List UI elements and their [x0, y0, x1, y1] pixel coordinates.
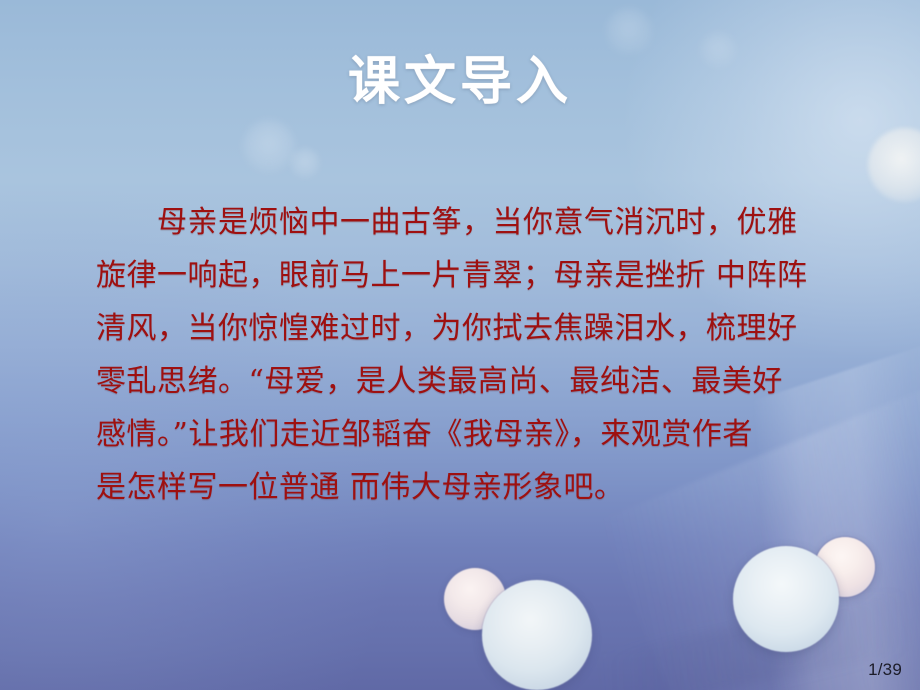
slide-body-text: 母亲是烦恼中一曲古筝，当你意气消沉时，优雅 旋律一响起，眼前马上一片青翠；母亲是… — [96, 196, 836, 514]
sphere-left-large-icon — [482, 580, 592, 690]
bokeh-highlight-icon — [243, 120, 295, 172]
bokeh-highlight-icon — [606, 8, 652, 54]
body-line: 感情。”让我们走近邹韬奋《我母亲》，来观赏作者 — [96, 408, 836, 461]
body-line: 零乱思绪。“母爱，是人类最高尚、最纯洁、最美好 — [96, 355, 836, 408]
sphere-right-large-icon — [733, 546, 839, 652]
bokeh-highlight-icon — [290, 148, 320, 178]
body-line: 是怎样写一位普通 而伟大母亲形象吧。 — [96, 461, 836, 514]
slide-title: 课文导入 — [0, 52, 920, 112]
body-line: 清风，当你惊惶难过时，为你拭去焦躁泪水，梳理好 — [96, 302, 836, 355]
page-indicator: 1/39 — [868, 660, 902, 680]
presentation-slide: 课文导入 母亲是烦恼中一曲古筝，当你意气消沉时，优雅 旋律一响起，眼前马上一片青… — [0, 0, 920, 690]
body-line: 母亲是烦恼中一曲古筝，当你意气消沉时，优雅 — [96, 196, 836, 249]
bokeh-highlight-icon — [868, 128, 920, 202]
sphere-left-small-icon — [444, 568, 506, 630]
body-line: 旋律一响起，眼前马上一片青翠；母亲是挫折 中阵阵 — [96, 249, 836, 302]
sphere-right-small-icon — [815, 537, 875, 597]
